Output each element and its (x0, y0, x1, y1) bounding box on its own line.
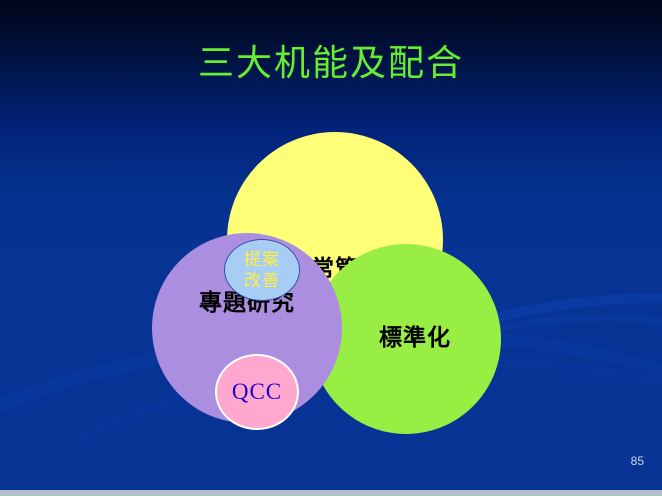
venn-label-qcc: QCC (232, 379, 282, 405)
venn-label-proposal: 提案 (244, 249, 280, 270)
slide-title: 三大机能及配合 (0, 34, 662, 86)
venn-label-standardization: 標準化 (379, 318, 451, 352)
slide-page-number: 85 (631, 454, 644, 468)
slide-canvas: 三大机能及配合 日常管理 標準化 專題研究 提案 改善 QCC 85 (0, 0, 662, 490)
presentation-slide: 三大机能及配合 日常管理 標準化 專題研究 提案 改善 QCC 85 (0, 0, 662, 496)
venn-circle-proposal-improvement: 提案 改善 (224, 239, 300, 301)
venn-circle-qcc: QCC (215, 354, 299, 430)
slide-bottom-border (0, 490, 662, 496)
venn-label-improvement: 改善 (244, 270, 280, 291)
